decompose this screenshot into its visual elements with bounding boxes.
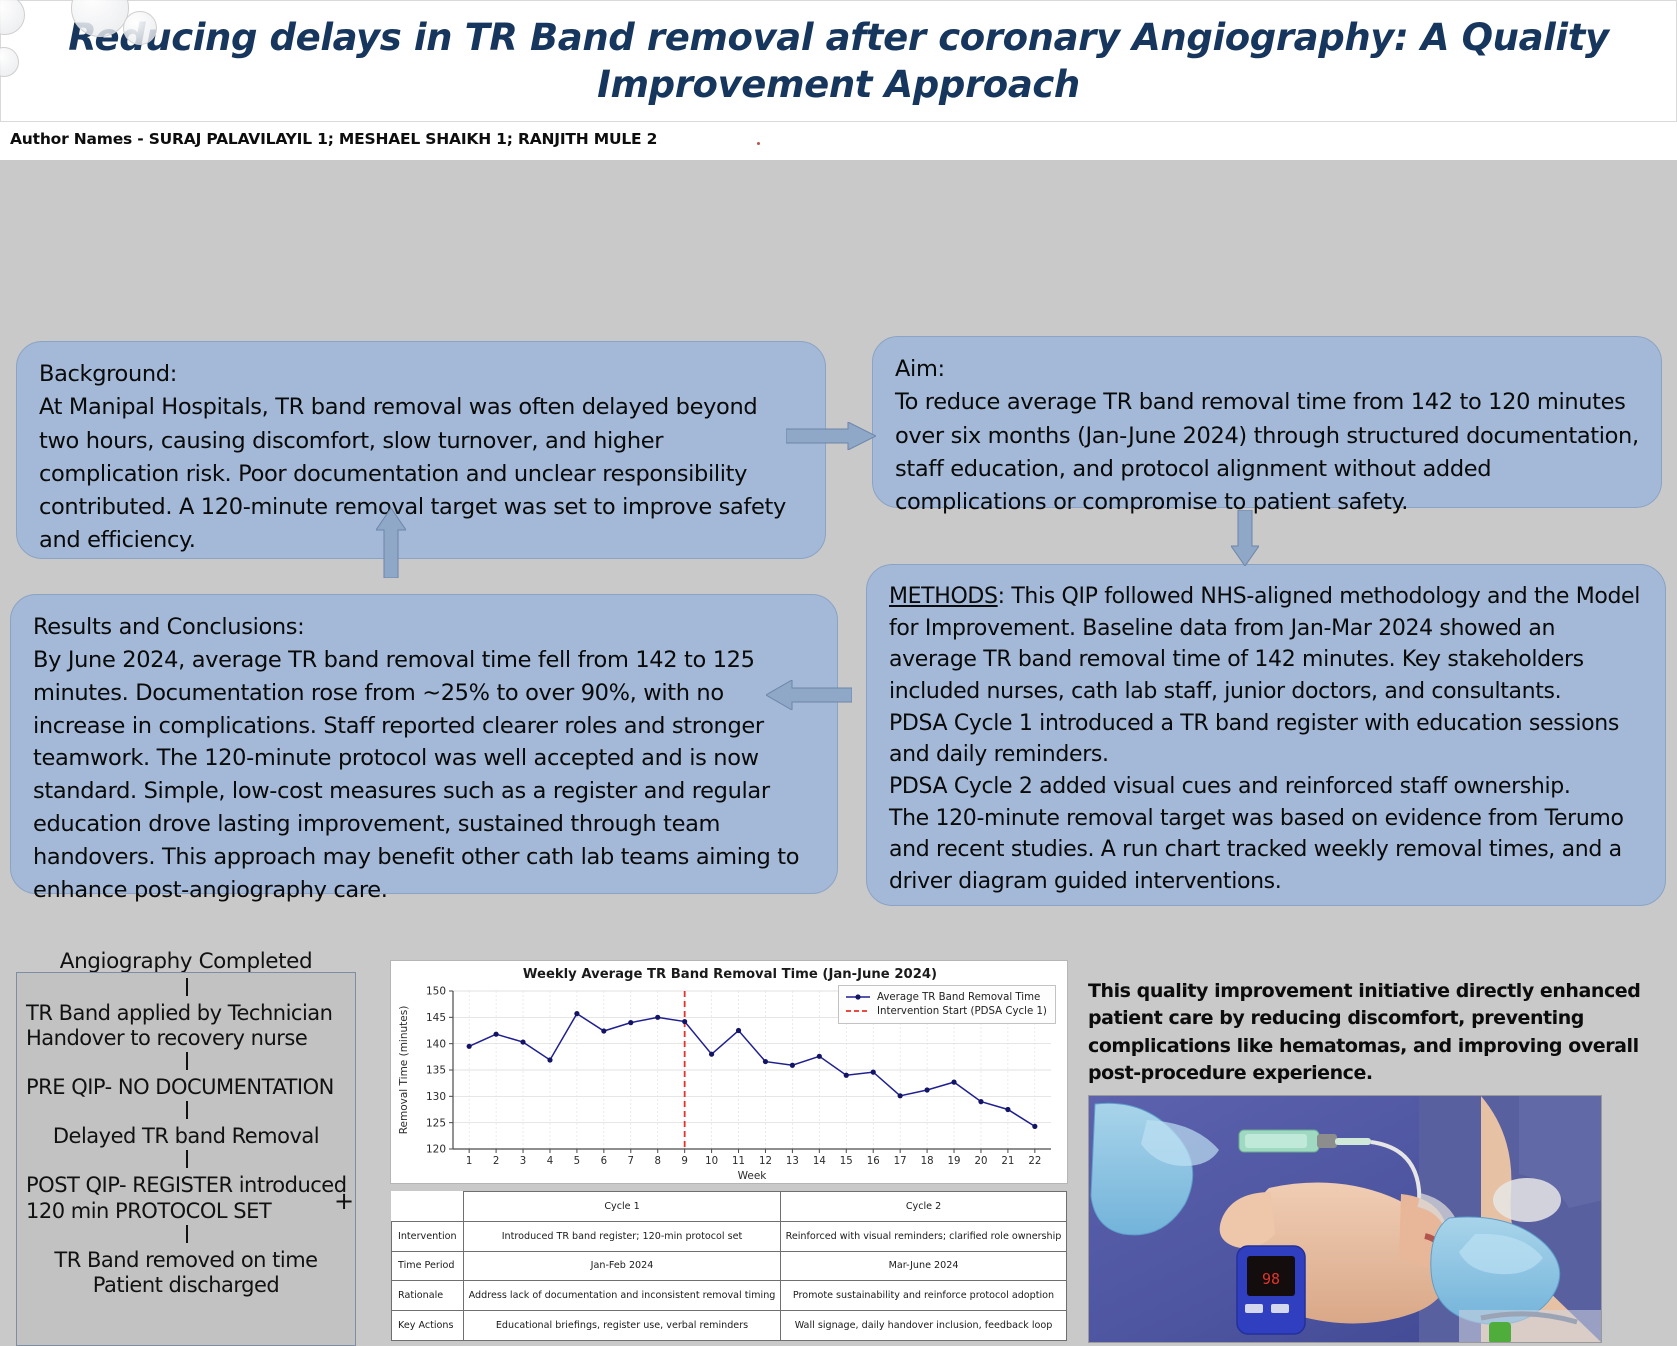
pdsa-row-label: Key Actions	[392, 1311, 464, 1341]
series-point	[709, 1052, 714, 1057]
pdsa-cell-cycle1: Introduced TR band register; 120-min pro…	[464, 1221, 781, 1251]
y-tick-label: 125	[426, 1117, 446, 1129]
x-tick-label: 13	[786, 1156, 799, 1167]
series-point	[682, 1019, 687, 1024]
x-tick-label: 7	[628, 1156, 634, 1167]
pdsa-row-label: Intervention	[392, 1221, 464, 1251]
pdsa-table-row: Time PeriodJan-Feb 2024Mar-June 2024	[392, 1251, 1067, 1281]
y-axis-label: Removal Time (minutes)	[398, 1006, 410, 1135]
flow-connector	[186, 1052, 188, 1070]
y-tick-label: 145	[426, 1012, 446, 1024]
background-heading: Background:	[39, 358, 803, 391]
decorative-bubble-icon	[123, 11, 157, 45]
aim-section: Aim: To reduce average TR band removal t…	[872, 336, 1662, 508]
flow-step-2: Handover to recovery nurse	[16, 1026, 356, 1052]
legend-label-series: Average TR Band Removal Time	[877, 992, 1040, 1003]
series-point	[844, 1073, 849, 1078]
y-tick-label: 150	[426, 986, 446, 998]
x-tick-label: 21	[1001, 1156, 1014, 1167]
author-names: Author Names - SURAJ PALAVILAYIL 1; MESH…	[10, 130, 657, 148]
flow-connector	[186, 1101, 188, 1119]
x-tick-label: 12	[759, 1156, 772, 1167]
flow-step-8: Patient discharged	[16, 1273, 356, 1299]
svg-text:98: 98	[1262, 1270, 1280, 1288]
series-point	[736, 1028, 741, 1033]
series-point	[924, 1087, 929, 1092]
legend-entry-series: Average TR Band Removal Time	[845, 990, 1047, 1004]
series-point	[1032, 1124, 1037, 1129]
pdsa-cell-cycle1: Address lack of documentation and incons…	[464, 1281, 781, 1311]
series-point	[628, 1020, 633, 1025]
x-tick-label: 9	[681, 1156, 687, 1167]
pdsa-table-row: Key ActionsEducational briefings, regist…	[392, 1311, 1067, 1341]
flow-step-6: 120 min PROTOCOL SET	[16, 1199, 356, 1225]
page-title: Reducing delays in TR Band removal after…	[19, 14, 1659, 109]
arrow-background-to-aim-icon	[786, 422, 876, 450]
pdsa-cell-cycle2: Reinforced with visual reminders; clarif…	[781, 1221, 1067, 1251]
clinical-photo-graphic: 98	[1089, 1096, 1602, 1343]
x-tick-label: 6	[601, 1156, 607, 1167]
pdsa-column-header: Cycle 2	[781, 1192, 1067, 1222]
series-point	[520, 1039, 525, 1044]
x-tick-label: 16	[867, 1156, 880, 1167]
x-tick-label: 15	[840, 1156, 853, 1167]
methods-paragraph-1: METHODS: This QIP followed NHS-aligned m…	[889, 581, 1643, 708]
pdsa-row-label: Rationale	[392, 1281, 464, 1311]
series-point	[493, 1032, 498, 1037]
x-tick-label: 19	[948, 1156, 961, 1167]
clinical-photo: 98	[1088, 1095, 1602, 1343]
x-tick-label: 2	[493, 1156, 499, 1167]
pdsa-cell-cycle2: Mar-June 2024	[781, 1251, 1067, 1281]
series-point	[790, 1063, 795, 1068]
flow-connector	[186, 1150, 188, 1168]
methods-heading: METHODS	[889, 584, 998, 609]
aim-body: To reduce average TR band removal time f…	[895, 386, 1639, 519]
series-point	[547, 1057, 552, 1062]
x-tick-label: 14	[813, 1156, 826, 1167]
flow-title: Angiography Completed	[16, 949, 356, 974]
author-strip: Author Names - SURAJ PALAVILAYIL 1; MESH…	[0, 122, 1677, 160]
methods-body-4: The 120-minute removal target was based …	[889, 803, 1643, 898]
series-point	[898, 1093, 903, 1098]
pdsa-corner-cell	[392, 1192, 464, 1222]
pdsa-header-row: Cycle 1Cycle 2	[392, 1192, 1067, 1222]
series-point	[601, 1028, 606, 1033]
y-tick-label: 135	[426, 1065, 446, 1077]
methods-body-3: PDSA Cycle 2 added visual cues and reinf…	[889, 771, 1643, 803]
y-tick-label: 130	[426, 1091, 446, 1103]
pdsa-cell-cycle1: Jan-Feb 2024	[464, 1251, 781, 1281]
background-section: Background: At Manipal Hospitals, TR ban…	[16, 341, 826, 559]
run-chart-panel: Weekly Average TR Band Removal Time (Jan…	[390, 960, 1068, 1184]
flow-step-7: TR Band removed on time	[16, 1248, 356, 1274]
x-axis-label: Week	[738, 1170, 768, 1182]
x-tick-label: 11	[732, 1156, 745, 1167]
series-point	[574, 1011, 579, 1016]
x-tick-label: 4	[547, 1156, 553, 1167]
series-point	[763, 1059, 768, 1064]
methods-section: METHODS: This QIP followed NHS-aligned m…	[866, 564, 1666, 906]
series-point	[871, 1070, 876, 1075]
methods-body-2: PDSA Cycle 1 introduced a TR band regist…	[889, 708, 1643, 771]
arrow-results-to-background-icon	[376, 508, 406, 578]
legend-line-marker-icon	[845, 992, 871, 1002]
flow-connector	[186, 1225, 188, 1243]
pdsa-cycles-table-wrap: Cycle 1Cycle 2InterventionIntroduced TR …	[390, 1190, 1068, 1342]
pdsa-table-row: RationaleAddress lack of documentation a…	[392, 1281, 1067, 1311]
decorative-dot-icon	[757, 142, 760, 145]
x-tick-label: 20	[974, 1156, 987, 1167]
pdsa-column-header: Cycle 1	[464, 1192, 781, 1222]
x-tick-label: 17	[894, 1156, 907, 1167]
pdsa-cell-cycle1: Educational briefings, register use, ver…	[464, 1311, 781, 1341]
arrow-aim-to-methods-icon	[1231, 510, 1259, 566]
x-tick-label: 10	[705, 1156, 718, 1167]
poster-title-banner: Reducing delays in TR Band removal after…	[0, 0, 1677, 122]
chart-legend: Average TR Band Removal Time Interventio…	[838, 985, 1056, 1024]
x-tick-label: 8	[654, 1156, 660, 1167]
flow-step-1: TR Band applied by Technician	[16, 1001, 356, 1027]
legend-label-intervention: Intervention Start (PDSA Cycle 1)	[877, 1006, 1047, 1017]
aim-heading: Aim:	[895, 353, 1639, 386]
pdsa-table-row: InterventionIntroduced TR band register;…	[392, 1221, 1067, 1251]
legend-dashed-line-icon	[845, 1006, 871, 1016]
results-heading: Results and Conclusions:	[33, 611, 815, 644]
flow-connector	[186, 978, 188, 996]
pdsa-cell-cycle2: Promote sustainability and reinforce pro…	[781, 1281, 1067, 1311]
series-point	[655, 1015, 660, 1020]
arrow-methods-to-results-icon	[766, 680, 852, 710]
methods-body-1: : This QIP followed NHS-aligned methodol…	[889, 584, 1640, 704]
series-point	[978, 1099, 983, 1104]
x-tick-label: 5	[574, 1156, 580, 1167]
legend-entry-intervention: Intervention Start (PDSA Cycle 1)	[845, 1004, 1047, 1018]
flow-step-3: PRE QIP- NO DOCUMENTATION	[16, 1075, 356, 1101]
series-point	[951, 1080, 956, 1085]
x-tick-label: 18	[921, 1156, 934, 1167]
impact-statement: This quality improvement initiative dire…	[1088, 978, 1648, 1087]
series-point	[817, 1054, 822, 1059]
series-point	[467, 1044, 472, 1049]
pdsa-cell-cycle2: Wall signage, daily handover inclusion, …	[781, 1311, 1067, 1341]
background-body: At Manipal Hospitals, TR band removal wa…	[39, 391, 803, 557]
series-point	[1005, 1107, 1010, 1112]
y-tick-label: 120	[426, 1144, 446, 1156]
pdsa-cycles-table: Cycle 1Cycle 2InterventionIntroduced TR …	[391, 1191, 1067, 1341]
results-section: Results and Conclusions: By June 2024, a…	[10, 594, 838, 894]
y-tick-label: 140	[426, 1038, 446, 1050]
pdsa-row-label: Time Period	[392, 1251, 464, 1281]
x-tick-label: 3	[520, 1156, 526, 1167]
poster-body: Background: At Manipal Hospitals, TR ban…	[0, 160, 1677, 1186]
results-body: By June 2024, average TR band removal ti…	[33, 644, 815, 907]
x-tick-label: 22	[1028, 1156, 1041, 1167]
x-tick-label: 1	[466, 1156, 472, 1167]
decorative-bubble-icon	[0, 47, 19, 77]
flow-step-4: Delayed TR band Removal	[16, 1124, 356, 1150]
